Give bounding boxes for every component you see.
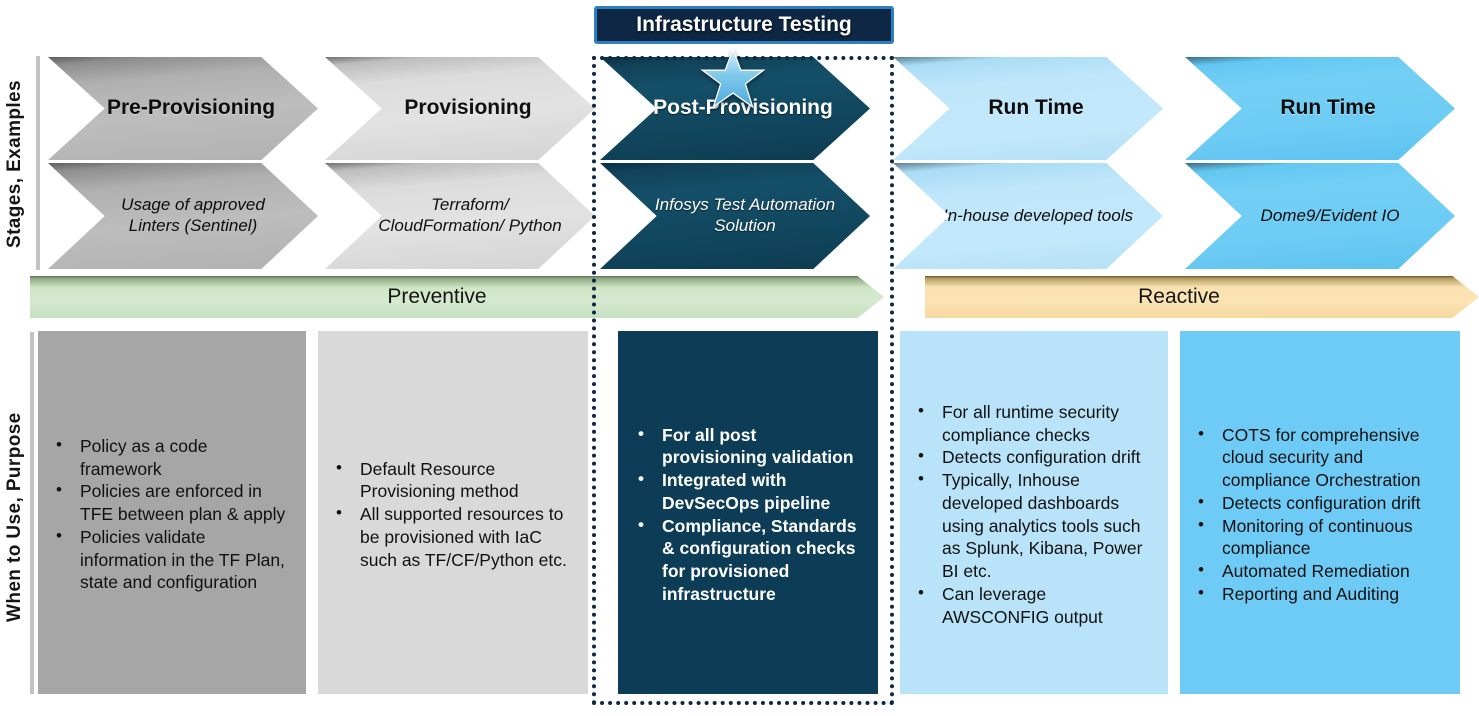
list-item: Detects configuration drift xyxy=(940,446,1152,469)
list-item: Policies validate information in the TF … xyxy=(78,526,290,594)
stage-example: In-house developed tools xyxy=(943,206,1133,227)
stage-example-cell: Terraform/ CloudFormation/ Python xyxy=(325,163,595,269)
list-item: For all post provisioning validation xyxy=(660,424,862,470)
list-item: Default Resource Provisioning method xyxy=(358,458,572,504)
stage-chevron-run-time-1[interactable]: Run Time In-house developed tools xyxy=(893,57,1163,269)
stage-title: Run Time xyxy=(1280,96,1375,120)
stage-example-cell: Dome9/Evident IO xyxy=(1185,163,1455,269)
purpose-list: For all runtime security compliance chec… xyxy=(906,401,1158,629)
stage-example: Infosys Test Automation Solution xyxy=(646,195,844,236)
list-item: Policies are enforced in TFE between pla… xyxy=(78,480,290,526)
list-item: All supported resources to be provisione… xyxy=(358,503,572,571)
stage-title-cell: Provisioning xyxy=(325,57,595,160)
stages-row-divider xyxy=(36,56,40,270)
stage-title-cell: Run Time xyxy=(893,57,1163,160)
star-icon xyxy=(700,48,766,110)
stage-chevron-run-time-2[interactable]: Run Time Dome9/Evident IO xyxy=(1185,57,1455,269)
stage-example-cell: In-house developed tools xyxy=(893,163,1163,269)
list-item: Policy as a code framework xyxy=(78,435,290,481)
band-reactive: Reactive xyxy=(925,276,1479,318)
purpose-list: For all post provisioning validationInte… xyxy=(624,424,868,606)
list-item: Automated Remediation xyxy=(1220,560,1444,583)
band-preventive: Preventive xyxy=(30,276,884,318)
purpose-row-divider xyxy=(30,332,34,694)
stage-title-cell: Pre-Provisioning xyxy=(48,57,318,160)
list-item: Detects configuration drift xyxy=(1220,492,1444,515)
stage-title-cell: Run Time xyxy=(1185,57,1455,160)
stage-chevron-pre-provisioning[interactable]: Pre-Provisioning Usage of approved Linte… xyxy=(48,57,318,269)
stage-example-cell: Usage of approved Linters (Sentinel) xyxy=(48,163,318,269)
list-item: Typically, Inhouse developed dashboards … xyxy=(940,469,1152,583)
purpose-panel-post-provisioning[interactable]: For all post provisioning validationInte… xyxy=(618,331,878,694)
stage-example-cell: Infosys Test Automation Solution xyxy=(600,163,870,269)
stage-title: Provisioning xyxy=(404,96,531,120)
infrastructure-testing-badge[interactable]: Infrastructure Testing xyxy=(594,6,894,44)
list-item: Monitoring of continuous compliance xyxy=(1220,515,1444,561)
when-to-use-row-label: When to Use, Purpose xyxy=(4,352,26,682)
stages-row-label: Stages, Examples xyxy=(4,58,26,270)
list-item: Reporting and Auditing xyxy=(1220,583,1444,606)
list-item: Can leverage AWSCONFIG output xyxy=(940,583,1152,629)
purpose-list: Default Resource Provisioning methodAll … xyxy=(324,458,578,572)
stage-chevron-provisioning[interactable]: Provisioning Terraform/ CloudFormation/ … xyxy=(325,57,595,269)
list-item: Integrated with DevSecOps pipeline xyxy=(660,469,862,515)
purpose-list: COTS for comprehensive cloud security an… xyxy=(1186,424,1450,606)
stage-example: Terraform/ CloudFormation/ Python xyxy=(371,195,569,236)
diagram-canvas: Stages, Examples When to Use, Purpose Pr… xyxy=(0,0,1479,716)
list-item: COTS for comprehensive cloud security an… xyxy=(1220,424,1444,492)
stage-example: Usage of approved Linters (Sentinel) xyxy=(94,195,292,236)
list-item: For all runtime security compliance chec… xyxy=(940,401,1152,447)
purpose-list: Policy as a code frameworkPolicies are e… xyxy=(44,435,296,594)
purpose-panel-run-time-2[interactable]: COTS for comprehensive cloud security an… xyxy=(1180,331,1460,694)
stage-title: Run Time xyxy=(988,96,1083,120)
purpose-panel-run-time-1[interactable]: For all runtime security compliance chec… xyxy=(900,331,1168,694)
stage-title: Pre-Provisioning xyxy=(107,96,275,120)
purpose-panel-pre-provisioning[interactable]: Policy as a code frameworkPolicies are e… xyxy=(38,331,306,694)
list-item: Compliance, Standards & configuration ch… xyxy=(660,515,862,606)
stage-example: Dome9/Evident IO xyxy=(1261,206,1400,227)
purpose-panel-provisioning[interactable]: Default Resource Provisioning methodAll … xyxy=(318,331,588,694)
